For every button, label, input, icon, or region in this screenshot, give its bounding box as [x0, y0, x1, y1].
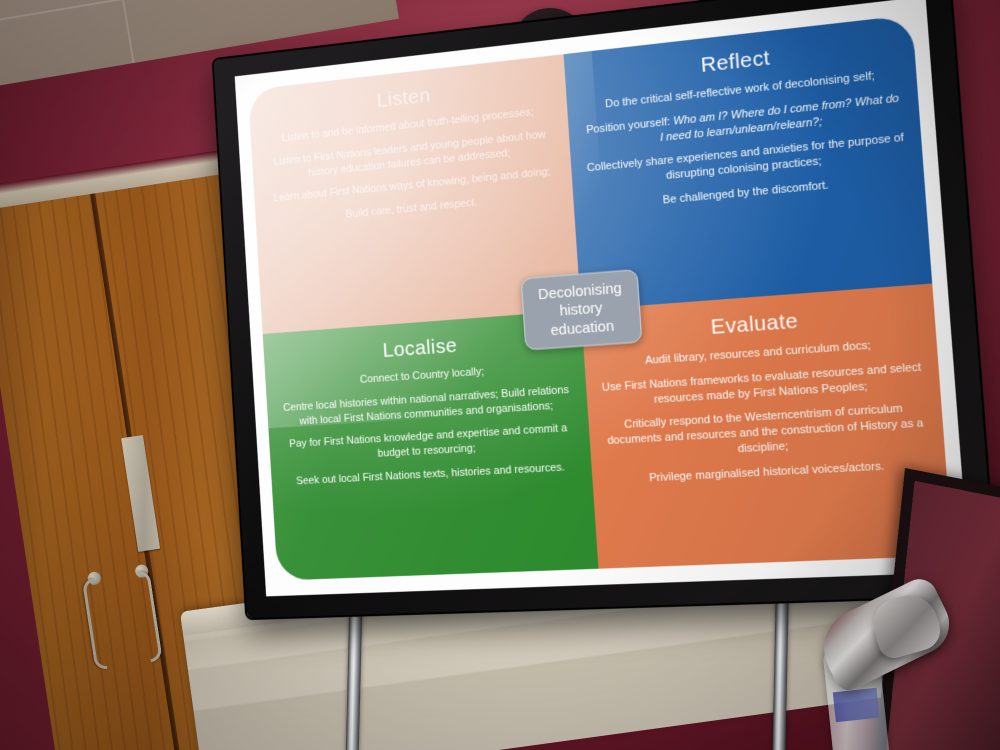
center-badge: Decolonising history education: [521, 269, 643, 350]
photo-scene: Listen Listen to and be informed about t…: [0, 0, 1000, 750]
evaluate-line-3: Critically respond to the Westerncentris…: [604, 401, 927, 464]
quadrant-reflect: Reflect Do the critical self-reflective …: [564, 15, 933, 310]
quadrant-localise: Localise Connect to Country locally; Cen…: [263, 310, 599, 581]
display-screen: Listen Listen to and be informed about t…: [235, 0, 970, 596]
localise-line-3: Pay for First Nations knowledge and expe…: [283, 421, 575, 466]
quadrant-grid: Listen Listen to and be informed about t…: [248, 15, 953, 581]
wall-display: Listen Listen to and be informed about t…: [214, 0, 997, 618]
bottle-label: [833, 688, 880, 722]
presentation-slide: Listen Listen to and be informed about t…: [235, 0, 970, 596]
localise-line-4: Seek out local First Nations texts, hist…: [286, 460, 577, 490]
